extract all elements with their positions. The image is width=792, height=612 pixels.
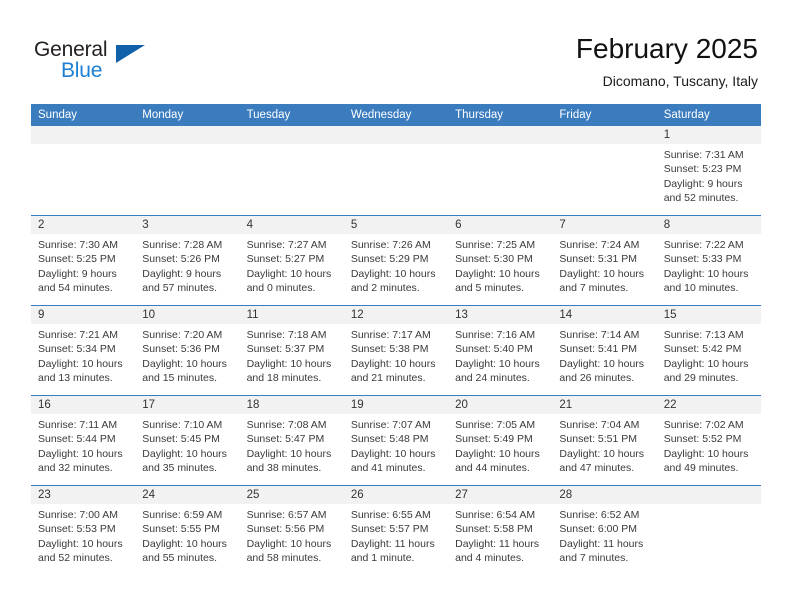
day-detail-line: and 13 minutes. <box>38 371 129 385</box>
day-number: 13 <box>448 306 552 324</box>
calendar-week-row: 16Sunrise: 7:11 AMSunset: 5:44 PMDayligh… <box>31 396 761 486</box>
calendar-body: 1Sunrise: 7:31 AMSunset: 5:23 PMDaylight… <box>31 126 761 575</box>
day-detail-line: Daylight: 10 hours <box>664 267 755 281</box>
day-cell-inner: 3Sunrise: 7:28 AMSunset: 5:26 PMDaylight… <box>135 216 239 305</box>
day-detail-line: Daylight: 10 hours <box>38 357 129 371</box>
day-detail-line: and 44 minutes. <box>455 461 546 475</box>
day-number: 8 <box>657 216 761 234</box>
day-detail-line: Daylight: 10 hours <box>455 357 546 371</box>
day-number: 4 <box>240 216 344 234</box>
day-detail-line: and 38 minutes. <box>247 461 338 475</box>
calendar-week-row: 1Sunrise: 7:31 AMSunset: 5:23 PMDaylight… <box>31 126 761 216</box>
day-detail-line: and 47 minutes. <box>559 461 650 475</box>
day-detail-line: and 7 minutes. <box>559 551 650 565</box>
calendar-table: SundayMondayTuesdayWednesdayThursdayFrid… <box>31 104 761 575</box>
day-detail-line: Sunset: 5:36 PM <box>142 342 233 356</box>
calendar-cell-empty <box>240 126 344 216</box>
calendar-day-cell[interactable]: 28Sunrise: 6:52 AMSunset: 6:00 PMDayligh… <box>552 486 656 576</box>
day-detail-line: and 49 minutes. <box>664 461 755 475</box>
day-details: Sunrise: 7:08 AMSunset: 5:47 PMDaylight:… <box>240 414 344 476</box>
day-detail-line: Daylight: 10 hours <box>455 447 546 461</box>
weekday-header-tuesday: Tuesday <box>240 104 344 126</box>
day-number: 27 <box>448 486 552 504</box>
day-details: Sunrise: 6:54 AMSunset: 5:58 PMDaylight:… <box>448 504 552 566</box>
triangle-icon <box>116 45 145 63</box>
day-detail-line: Sunset: 5:57 PM <box>351 522 442 536</box>
day-detail-line: Sunset: 5:44 PM <box>38 432 129 446</box>
day-details: Sunrise: 7:28 AMSunset: 5:26 PMDaylight:… <box>135 234 239 296</box>
day-detail-line: Sunrise: 7:11 AM <box>38 418 129 432</box>
day-number: 19 <box>344 396 448 414</box>
day-number: 11 <box>240 306 344 324</box>
day-detail-line: Sunrise: 7:10 AM <box>142 418 233 432</box>
calendar-day-cell[interactable]: 4Sunrise: 7:27 AMSunset: 5:27 PMDaylight… <box>240 216 344 306</box>
day-detail-line: Sunrise: 7:07 AM <box>351 418 442 432</box>
day-detail-line: and 32 minutes. <box>38 461 129 475</box>
day-cell-inner: 28Sunrise: 6:52 AMSunset: 6:00 PMDayligh… <box>552 486 656 575</box>
day-detail-line: Sunrise: 6:59 AM <box>142 508 233 522</box>
day-number <box>657 486 761 504</box>
day-number: 22 <box>657 396 761 414</box>
day-details: Sunrise: 7:31 AMSunset: 5:23 PMDaylight:… <box>657 144 761 206</box>
day-cell-inner: 19Sunrise: 7:07 AMSunset: 5:48 PMDayligh… <box>344 396 448 485</box>
day-number: 18 <box>240 396 344 414</box>
day-details <box>240 144 344 148</box>
calendar-day-cell[interactable]: 6Sunrise: 7:25 AMSunset: 5:30 PMDaylight… <box>448 216 552 306</box>
day-details: Sunrise: 7:13 AMSunset: 5:42 PMDaylight:… <box>657 324 761 386</box>
day-detail-line: Sunset: 5:49 PM <box>455 432 546 446</box>
day-details: Sunrise: 7:30 AMSunset: 5:25 PMDaylight:… <box>31 234 135 296</box>
day-detail-line: Daylight: 9 hours <box>38 267 129 281</box>
day-cell-inner: 5Sunrise: 7:26 AMSunset: 5:29 PMDaylight… <box>344 216 448 305</box>
day-detail-line: Daylight: 10 hours <box>142 447 233 461</box>
calendar-day-cell[interactable]: 14Sunrise: 7:14 AMSunset: 5:41 PMDayligh… <box>552 306 656 396</box>
day-detail-line: and 21 minutes. <box>351 371 442 385</box>
day-detail-line: Sunrise: 7:20 AM <box>142 328 233 342</box>
day-detail-line: Sunrise: 7:22 AM <box>664 238 755 252</box>
day-details <box>657 504 761 508</box>
day-detail-line: Sunrise: 6:54 AM <box>455 508 546 522</box>
day-cell-inner <box>240 126 344 215</box>
day-detail-line: and 7 minutes. <box>559 281 650 295</box>
day-detail-line: Sunset: 6:00 PM <box>559 522 650 536</box>
day-details <box>552 144 656 148</box>
day-cell-inner: 27Sunrise: 6:54 AMSunset: 5:58 PMDayligh… <box>448 486 552 575</box>
day-number: 7 <box>552 216 656 234</box>
day-detail-line: and 26 minutes. <box>559 371 650 385</box>
day-detail-line: Sunrise: 7:13 AM <box>664 328 755 342</box>
day-number: 24 <box>135 486 239 504</box>
calendar-day-cell[interactable]: 12Sunrise: 7:17 AMSunset: 5:38 PMDayligh… <box>344 306 448 396</box>
day-detail-line: and 52 minutes. <box>38 551 129 565</box>
day-details: Sunrise: 7:14 AMSunset: 5:41 PMDaylight:… <box>552 324 656 386</box>
day-detail-line: Sunset: 5:47 PM <box>247 432 338 446</box>
day-detail-line: Daylight: 10 hours <box>559 357 650 371</box>
day-detail-line: Sunset: 5:51 PM <box>559 432 650 446</box>
day-detail-line: and 0 minutes. <box>247 281 338 295</box>
calendar-day-cell[interactable]: 2Sunrise: 7:30 AMSunset: 5:25 PMDaylight… <box>31 216 135 306</box>
day-cell-inner: 1Sunrise: 7:31 AMSunset: 5:23 PMDaylight… <box>657 126 761 215</box>
day-details <box>135 144 239 148</box>
calendar-week-row: 2Sunrise: 7:30 AMSunset: 5:25 PMDaylight… <box>31 216 761 306</box>
day-number: 16 <box>31 396 135 414</box>
day-detail-line: Daylight: 11 hours <box>351 537 442 551</box>
day-number: 9 <box>31 306 135 324</box>
day-cell-inner: 15Sunrise: 7:13 AMSunset: 5:42 PMDayligh… <box>657 306 761 395</box>
day-cell-inner: 4Sunrise: 7:27 AMSunset: 5:27 PMDaylight… <box>240 216 344 305</box>
calendar-cell-empty <box>344 126 448 216</box>
day-detail-line: Daylight: 10 hours <box>142 357 233 371</box>
day-details: Sunrise: 7:02 AMSunset: 5:52 PMDaylight:… <box>657 414 761 476</box>
calendar-cell-empty <box>31 126 135 216</box>
day-cell-inner: 12Sunrise: 7:17 AMSunset: 5:38 PMDayligh… <box>344 306 448 395</box>
day-detail-line: Sunrise: 7:16 AM <box>455 328 546 342</box>
calendar-day-cell[interactable]: 15Sunrise: 7:13 AMSunset: 5:42 PMDayligh… <box>657 306 761 396</box>
calendar-day-cell[interactable]: 20Sunrise: 7:05 AMSunset: 5:49 PMDayligh… <box>448 396 552 486</box>
day-detail-line: Sunset: 5:25 PM <box>38 252 129 266</box>
day-detail-line: Sunset: 5:33 PM <box>664 252 755 266</box>
day-detail-line: and 41 minutes. <box>351 461 442 475</box>
day-number: 14 <box>552 306 656 324</box>
day-cell-inner: 2Sunrise: 7:30 AMSunset: 5:25 PMDaylight… <box>31 216 135 305</box>
day-detail-line: Sunset: 5:53 PM <box>38 522 129 536</box>
calendar-week-row: 9Sunrise: 7:21 AMSunset: 5:34 PMDaylight… <box>31 306 761 396</box>
day-cell-inner: 24Sunrise: 6:59 AMSunset: 5:55 PMDayligh… <box>135 486 239 575</box>
day-cell-inner <box>135 126 239 215</box>
day-detail-line: Sunset: 5:29 PM <box>351 252 442 266</box>
day-detail-line: Daylight: 10 hours <box>247 357 338 371</box>
day-detail-line: Daylight: 10 hours <box>351 357 442 371</box>
calendar-week-row: 23Sunrise: 7:00 AMSunset: 5:53 PMDayligh… <box>31 486 761 576</box>
day-cell-inner: 9Sunrise: 7:21 AMSunset: 5:34 PMDaylight… <box>31 306 135 395</box>
day-details: Sunrise: 7:27 AMSunset: 5:27 PMDaylight:… <box>240 234 344 296</box>
day-detail-line: and 2 minutes. <box>351 281 442 295</box>
day-detail-line: Sunset: 5:31 PM <box>559 252 650 266</box>
day-details: Sunrise: 7:10 AMSunset: 5:45 PMDaylight:… <box>135 414 239 476</box>
day-detail-line: and 29 minutes. <box>664 371 755 385</box>
calendar-cell-empty <box>135 126 239 216</box>
calendar-header-row: SundayMondayTuesdayWednesdayThursdayFrid… <box>31 104 761 126</box>
weekday-header-saturday: Saturday <box>657 104 761 126</box>
page-header: General Blue February 2025 Dicomano, Tus… <box>0 0 792 100</box>
day-details: Sunrise: 7:25 AMSunset: 5:30 PMDaylight:… <box>448 234 552 296</box>
calendar-day-cell[interactable]: 5Sunrise: 7:26 AMSunset: 5:29 PMDaylight… <box>344 216 448 306</box>
day-cell-inner <box>657 486 761 575</box>
day-detail-line: Sunrise: 7:25 AM <box>455 238 546 252</box>
day-cell-inner: 16Sunrise: 7:11 AMSunset: 5:44 PMDayligh… <box>31 396 135 485</box>
day-cell-inner <box>552 126 656 215</box>
day-number: 12 <box>344 306 448 324</box>
calendar-day-cell[interactable]: 18Sunrise: 7:08 AMSunset: 5:47 PMDayligh… <box>240 396 344 486</box>
day-number: 28 <box>552 486 656 504</box>
day-cell-inner <box>344 126 448 215</box>
day-number <box>135 126 239 144</box>
day-detail-line: Sunset: 5:37 PM <box>247 342 338 356</box>
title-block: February 2025 Dicomano, Tuscany, Italy <box>576 32 758 90</box>
day-detail-line: Daylight: 10 hours <box>142 537 233 551</box>
page-title: February 2025 <box>576 32 758 66</box>
day-detail-line: Sunrise: 7:04 AM <box>559 418 650 432</box>
logo-text-blue: Blue <box>61 59 102 83</box>
day-detail-line: Sunrise: 6:57 AM <box>247 508 338 522</box>
day-cell-inner: 7Sunrise: 7:24 AMSunset: 5:31 PMDaylight… <box>552 216 656 305</box>
day-details: Sunrise: 7:17 AMSunset: 5:38 PMDaylight:… <box>344 324 448 386</box>
day-detail-line: Sunset: 5:23 PM <box>664 162 755 176</box>
day-detail-line: Daylight: 10 hours <box>247 537 338 551</box>
day-number: 3 <box>135 216 239 234</box>
day-detail-line: Sunset: 5:34 PM <box>38 342 129 356</box>
calendar-day-cell[interactable]: 8Sunrise: 7:22 AMSunset: 5:33 PMDaylight… <box>657 216 761 306</box>
calendar-day-cell[interactable]: 1Sunrise: 7:31 AMSunset: 5:23 PMDaylight… <box>657 126 761 216</box>
day-detail-line: Daylight: 10 hours <box>247 267 338 281</box>
day-cell-inner: 13Sunrise: 7:16 AMSunset: 5:40 PMDayligh… <box>448 306 552 395</box>
day-detail-line: and 54 minutes. <box>38 281 129 295</box>
calendar-day-cell[interactable]: 13Sunrise: 7:16 AMSunset: 5:40 PMDayligh… <box>448 306 552 396</box>
day-detail-line: Sunrise: 7:30 AM <box>38 238 129 252</box>
day-detail-line: Sunrise: 7:00 AM <box>38 508 129 522</box>
day-cell-inner: 26Sunrise: 6:55 AMSunset: 5:57 PMDayligh… <box>344 486 448 575</box>
calendar-day-cell[interactable]: 23Sunrise: 7:00 AMSunset: 5:53 PMDayligh… <box>31 486 135 576</box>
day-details: Sunrise: 7:26 AMSunset: 5:29 PMDaylight:… <box>344 234 448 296</box>
day-detail-line: Sunrise: 7:05 AM <box>455 418 546 432</box>
calendar-page: General Blue February 2025 Dicomano, Tus… <box>0 0 792 612</box>
calendar-day-cell[interactable]: 27Sunrise: 6:54 AMSunset: 5:58 PMDayligh… <box>448 486 552 576</box>
day-detail-line: Daylight: 9 hours <box>664 177 755 191</box>
calendar-day-cell[interactable]: 25Sunrise: 6:57 AMSunset: 5:56 PMDayligh… <box>240 486 344 576</box>
day-details: Sunrise: 7:04 AMSunset: 5:51 PMDaylight:… <box>552 414 656 476</box>
calendar-day-cell[interactable]: 11Sunrise: 7:18 AMSunset: 5:37 PMDayligh… <box>240 306 344 396</box>
day-number <box>448 126 552 144</box>
day-details: Sunrise: 6:57 AMSunset: 5:56 PMDaylight:… <box>240 504 344 566</box>
day-detail-line: Daylight: 11 hours <box>559 537 650 551</box>
day-details: Sunrise: 7:21 AMSunset: 5:34 PMDaylight:… <box>31 324 135 386</box>
day-detail-line: Sunrise: 7:28 AM <box>142 238 233 252</box>
day-details: Sunrise: 7:22 AMSunset: 5:33 PMDaylight:… <box>657 234 761 296</box>
day-details: Sunrise: 6:55 AMSunset: 5:57 PMDaylight:… <box>344 504 448 566</box>
weekday-header-sunday: Sunday <box>31 104 135 126</box>
day-details <box>31 144 135 148</box>
day-detail-line: and 5 minutes. <box>455 281 546 295</box>
day-details <box>344 144 448 148</box>
day-number: 15 <box>657 306 761 324</box>
day-detail-line: Daylight: 10 hours <box>351 267 442 281</box>
day-number: 2 <box>31 216 135 234</box>
day-detail-line: and 52 minutes. <box>664 191 755 205</box>
day-detail-line: Sunset: 5:55 PM <box>142 522 233 536</box>
day-detail-line: Sunrise: 7:26 AM <box>351 238 442 252</box>
day-detail-line: and 15 minutes. <box>142 371 233 385</box>
calendar-day-cell[interactable]: 7Sunrise: 7:24 AMSunset: 5:31 PMDaylight… <box>552 216 656 306</box>
calendar-cell-empty <box>552 126 656 216</box>
calendar-day-cell[interactable]: 10Sunrise: 7:20 AMSunset: 5:36 PMDayligh… <box>135 306 239 396</box>
day-detail-line: Daylight: 10 hours <box>38 537 129 551</box>
day-detail-line: Sunset: 5:45 PM <box>142 432 233 446</box>
day-detail-line: Daylight: 10 hours <box>38 447 129 461</box>
day-detail-line: Sunset: 5:26 PM <box>142 252 233 266</box>
day-cell-inner: 8Sunrise: 7:22 AMSunset: 5:33 PMDaylight… <box>657 216 761 305</box>
day-details: Sunrise: 7:05 AMSunset: 5:49 PMDaylight:… <box>448 414 552 476</box>
day-detail-line: Sunset: 5:40 PM <box>455 342 546 356</box>
day-number <box>344 126 448 144</box>
day-detail-line: Sunrise: 7:08 AM <box>247 418 338 432</box>
general-blue-logo[interactable]: General Blue <box>34 38 164 86</box>
day-details <box>448 144 552 148</box>
day-details: Sunrise: 7:07 AMSunset: 5:48 PMDaylight:… <box>344 414 448 476</box>
day-cell-inner: 21Sunrise: 7:04 AMSunset: 5:51 PMDayligh… <box>552 396 656 485</box>
day-cell-inner: 11Sunrise: 7:18 AMSunset: 5:37 PMDayligh… <box>240 306 344 395</box>
day-detail-line: Sunrise: 7:31 AM <box>664 148 755 162</box>
day-detail-line: Daylight: 11 hours <box>455 537 546 551</box>
weekday-header-thursday: Thursday <box>448 104 552 126</box>
day-detail-line: Sunrise: 7:02 AM <box>664 418 755 432</box>
calendar-day-cell[interactable]: 17Sunrise: 7:10 AMSunset: 5:45 PMDayligh… <box>135 396 239 486</box>
day-cell-inner: 14Sunrise: 7:14 AMSunset: 5:41 PMDayligh… <box>552 306 656 395</box>
day-cell-inner: 6Sunrise: 7:25 AMSunset: 5:30 PMDaylight… <box>448 216 552 305</box>
day-cell-inner: 18Sunrise: 7:08 AMSunset: 5:47 PMDayligh… <box>240 396 344 485</box>
calendar-day-cell[interactable]: 26Sunrise: 6:55 AMSunset: 5:57 PMDayligh… <box>344 486 448 576</box>
day-detail-line: Sunrise: 6:55 AM <box>351 508 442 522</box>
day-detail-line: Daylight: 10 hours <box>559 447 650 461</box>
day-detail-line: Sunset: 5:38 PM <box>351 342 442 356</box>
day-number: 17 <box>135 396 239 414</box>
day-detail-line: and 18 minutes. <box>247 371 338 385</box>
day-detail-line: and 57 minutes. <box>142 281 233 295</box>
calendar-day-cell[interactable]: 24Sunrise: 6:59 AMSunset: 5:55 PMDayligh… <box>135 486 239 576</box>
day-detail-line: Sunrise: 7:14 AM <box>559 328 650 342</box>
day-number: 26 <box>344 486 448 504</box>
day-detail-line: Sunset: 5:56 PM <box>247 522 338 536</box>
day-detail-line: Sunset: 5:52 PM <box>664 432 755 446</box>
day-detail-line: Sunrise: 6:52 AM <box>559 508 650 522</box>
day-detail-line: Sunset: 5:58 PM <box>455 522 546 536</box>
day-number: 5 <box>344 216 448 234</box>
day-cell-inner: 20Sunrise: 7:05 AMSunset: 5:49 PMDayligh… <box>448 396 552 485</box>
day-cell-inner <box>31 126 135 215</box>
day-detail-line: Daylight: 10 hours <box>664 357 755 371</box>
day-number: 10 <box>135 306 239 324</box>
day-detail-line: Sunset: 5:27 PM <box>247 252 338 266</box>
day-details: Sunrise: 6:52 AMSunset: 6:00 PMDaylight:… <box>552 504 656 566</box>
day-detail-line: and 35 minutes. <box>142 461 233 475</box>
day-detail-line: Daylight: 10 hours <box>455 267 546 281</box>
day-detail-line: Daylight: 10 hours <box>351 447 442 461</box>
calendar-day-cell[interactable]: 22Sunrise: 7:02 AMSunset: 5:52 PMDayligh… <box>657 396 761 486</box>
day-number: 20 <box>448 396 552 414</box>
day-details: Sunrise: 7:11 AMSunset: 5:44 PMDaylight:… <box>31 414 135 476</box>
calendar-day-cell[interactable]: 9Sunrise: 7:21 AMSunset: 5:34 PMDaylight… <box>31 306 135 396</box>
calendar-day-cell[interactable]: 16Sunrise: 7:11 AMSunset: 5:44 PMDayligh… <box>31 396 135 486</box>
day-detail-line: and 10 minutes. <box>664 281 755 295</box>
day-detail-line: Sunrise: 7:17 AM <box>351 328 442 342</box>
day-details: Sunrise: 7:16 AMSunset: 5:40 PMDaylight:… <box>448 324 552 386</box>
day-cell-inner: 22Sunrise: 7:02 AMSunset: 5:52 PMDayligh… <box>657 396 761 485</box>
day-detail-line: and 24 minutes. <box>455 371 546 385</box>
day-detail-line: Sunrise: 7:24 AM <box>559 238 650 252</box>
day-number: 25 <box>240 486 344 504</box>
day-detail-line: Sunrise: 7:21 AM <box>38 328 129 342</box>
day-details: Sunrise: 7:00 AMSunset: 5:53 PMDaylight:… <box>31 504 135 566</box>
day-cell-inner: 17Sunrise: 7:10 AMSunset: 5:45 PMDayligh… <box>135 396 239 485</box>
day-cell-inner <box>448 126 552 215</box>
day-detail-line: Sunset: 5:30 PM <box>455 252 546 266</box>
weekday-header-wednesday: Wednesday <box>344 104 448 126</box>
day-number: 6 <box>448 216 552 234</box>
day-detail-line: Daylight: 9 hours <box>142 267 233 281</box>
day-detail-line: Daylight: 10 hours <box>559 267 650 281</box>
day-detail-line: Sunset: 5:42 PM <box>664 342 755 356</box>
day-detail-line: and 1 minute. <box>351 551 442 565</box>
calendar-day-cell[interactable]: 3Sunrise: 7:28 AMSunset: 5:26 PMDaylight… <box>135 216 239 306</box>
day-detail-line: Sunrise: 7:27 AM <box>247 238 338 252</box>
day-detail-line: Sunset: 5:48 PM <box>351 432 442 446</box>
day-detail-line: and 4 minutes. <box>455 551 546 565</box>
day-number <box>240 126 344 144</box>
day-detail-line: Sunset: 5:41 PM <box>559 342 650 356</box>
day-detail-line: and 58 minutes. <box>247 551 338 565</box>
day-number: 23 <box>31 486 135 504</box>
calendar-day-cell[interactable]: 21Sunrise: 7:04 AMSunset: 5:51 PMDayligh… <box>552 396 656 486</box>
day-cell-inner: 23Sunrise: 7:00 AMSunset: 5:53 PMDayligh… <box>31 486 135 575</box>
calendar-day-cell[interactable]: 19Sunrise: 7:07 AMSunset: 5:48 PMDayligh… <box>344 396 448 486</box>
day-detail-line: Sunrise: 7:18 AM <box>247 328 338 342</box>
day-cell-inner: 10Sunrise: 7:20 AMSunset: 5:36 PMDayligh… <box>135 306 239 395</box>
calendar-cell-empty <box>448 126 552 216</box>
calendar-cell-empty <box>657 486 761 576</box>
weekday-header-friday: Friday <box>552 104 656 126</box>
day-number <box>31 126 135 144</box>
day-detail-line: Daylight: 10 hours <box>664 447 755 461</box>
day-number: 21 <box>552 396 656 414</box>
day-detail-line: and 55 minutes. <box>142 551 233 565</box>
page-subtitle: Dicomano, Tuscany, Italy <box>576 73 758 90</box>
day-number: 1 <box>657 126 761 144</box>
day-details: Sunrise: 6:59 AMSunset: 5:55 PMDaylight:… <box>135 504 239 566</box>
day-details: Sunrise: 7:24 AMSunset: 5:31 PMDaylight:… <box>552 234 656 296</box>
day-number <box>552 126 656 144</box>
weekday-header-monday: Monday <box>135 104 239 126</box>
day-detail-line: Daylight: 10 hours <box>247 447 338 461</box>
day-details: Sunrise: 7:20 AMSunset: 5:36 PMDaylight:… <box>135 324 239 386</box>
day-details: Sunrise: 7:18 AMSunset: 5:37 PMDaylight:… <box>240 324 344 386</box>
day-cell-inner: 25Sunrise: 6:57 AMSunset: 5:56 PMDayligh… <box>240 486 344 575</box>
